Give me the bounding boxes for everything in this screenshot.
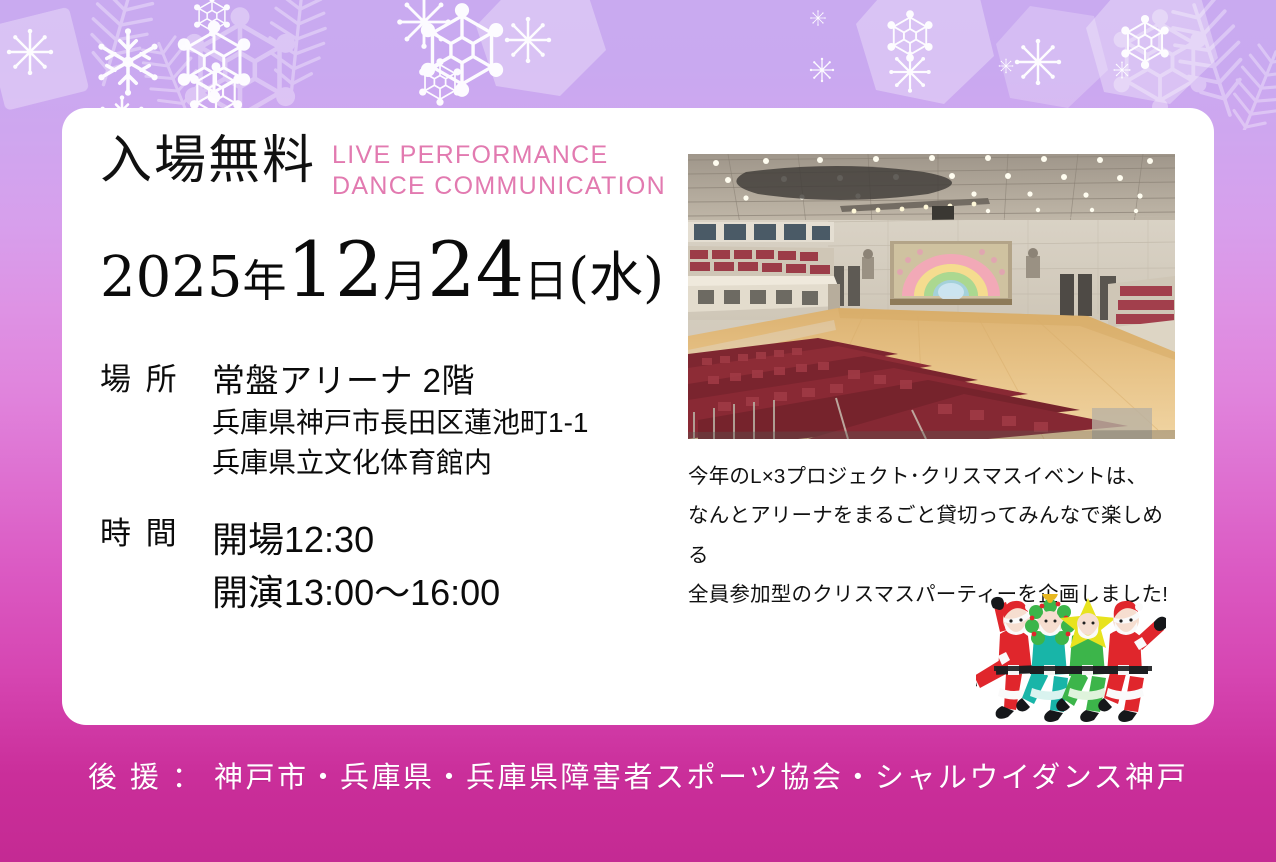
admission-free-heading: 入場無料 (100, 134, 316, 189)
date-day: 24 (427, 225, 524, 314)
venue-block: 場 所 常盤アリーナ 2階 兵庫県神戸市長田区蓮池町1-1 兵庫県立文化体育館内 (100, 360, 700, 482)
venue-address: 兵庫県神戸市長田区蓮池町1-1 (212, 403, 700, 443)
time-block: 時 間 開場12:30 開演13:00〜16:00 (100, 514, 700, 618)
admission-row: 入場無料 LIVE PERFORMANCE DANCE COMMUNICATIO… (100, 134, 700, 201)
description-line-2: なんとアリーナをまるごと貸切ってみんなで楽しめる (688, 496, 1176, 575)
dancing-santas-illustration (976, 594, 1166, 734)
date-day-unit: 日 (524, 256, 568, 307)
time-label: 時 間 (100, 514, 212, 554)
venue-values: 常盤アリーナ 2階 兵庫県神戸市長田区蓮池町1-1 兵庫県立文化体育館内 (212, 360, 700, 482)
venue-label: 場 所 (100, 360, 212, 400)
poster-root: 入場無料 LIVE PERFORMANCE DANCE COMMUNICATIO… (0, 0, 1276, 862)
tagline-block: LIVE PERFORMANCE DANCE COMMUNICATION (332, 140, 666, 201)
date-year: 2025 (100, 245, 243, 310)
venue-address-2: 兵庫県立文化体育館内 (212, 443, 700, 483)
right-column: 今年のL×3プロジェクト･クリスマスイベントは、 なんとアリーナをまるごと貸切っ… (688, 154, 1176, 614)
tagline-line-2: DANCE COMMUNICATION (332, 171, 666, 202)
show-start-time: 開演13:00〜16:00 (212, 567, 700, 619)
date-month-unit: 月 (383, 256, 427, 307)
date-month: 12 (287, 225, 384, 314)
event-description: 今年のL×3プロジェクト･クリスマスイベントは、 なんとアリーナをまるごと貸切っ… (688, 457, 1176, 614)
tagline-line-1: LIVE PERFORMANCE (332, 140, 666, 171)
doors-open-time: 開場12:30 (212, 514, 700, 566)
arena-interior-photo (688, 154, 1175, 439)
info-block-group: 場 所 常盤アリーナ 2階 兵庫県神戸市長田区蓮池町1-1 兵庫県立文化体育館内… (100, 360, 700, 619)
venue-name: 常盤アリーナ 2階 (212, 360, 700, 403)
sponsors-text: 後 援 ： 神戸市・兵庫県・兵庫県障害者スポーツ協会・シャルウイダンス神戸 (88, 754, 1188, 796)
event-date: 2025年12月24日(水) (100, 225, 700, 314)
content-card: 入場無料 LIVE PERFORMANCE DANCE COMMUNICATIO… (62, 108, 1214, 725)
date-year-unit: 年 (243, 256, 287, 307)
description-line-1: 今年のL×3プロジェクト･クリスマスイベントは、 (688, 457, 1176, 496)
left-column: 入場無料 LIVE PERFORMANCE DANCE COMMUNICATIO… (100, 134, 700, 619)
time-values: 開場12:30 開演13:00〜16:00 (212, 514, 700, 618)
sponsors-footer: 後 援 ： 神戸市・兵庫県・兵庫県障害者スポーツ協会・シャルウイダンス神戸 (0, 744, 1276, 806)
date-weekday: (水) (568, 246, 664, 309)
